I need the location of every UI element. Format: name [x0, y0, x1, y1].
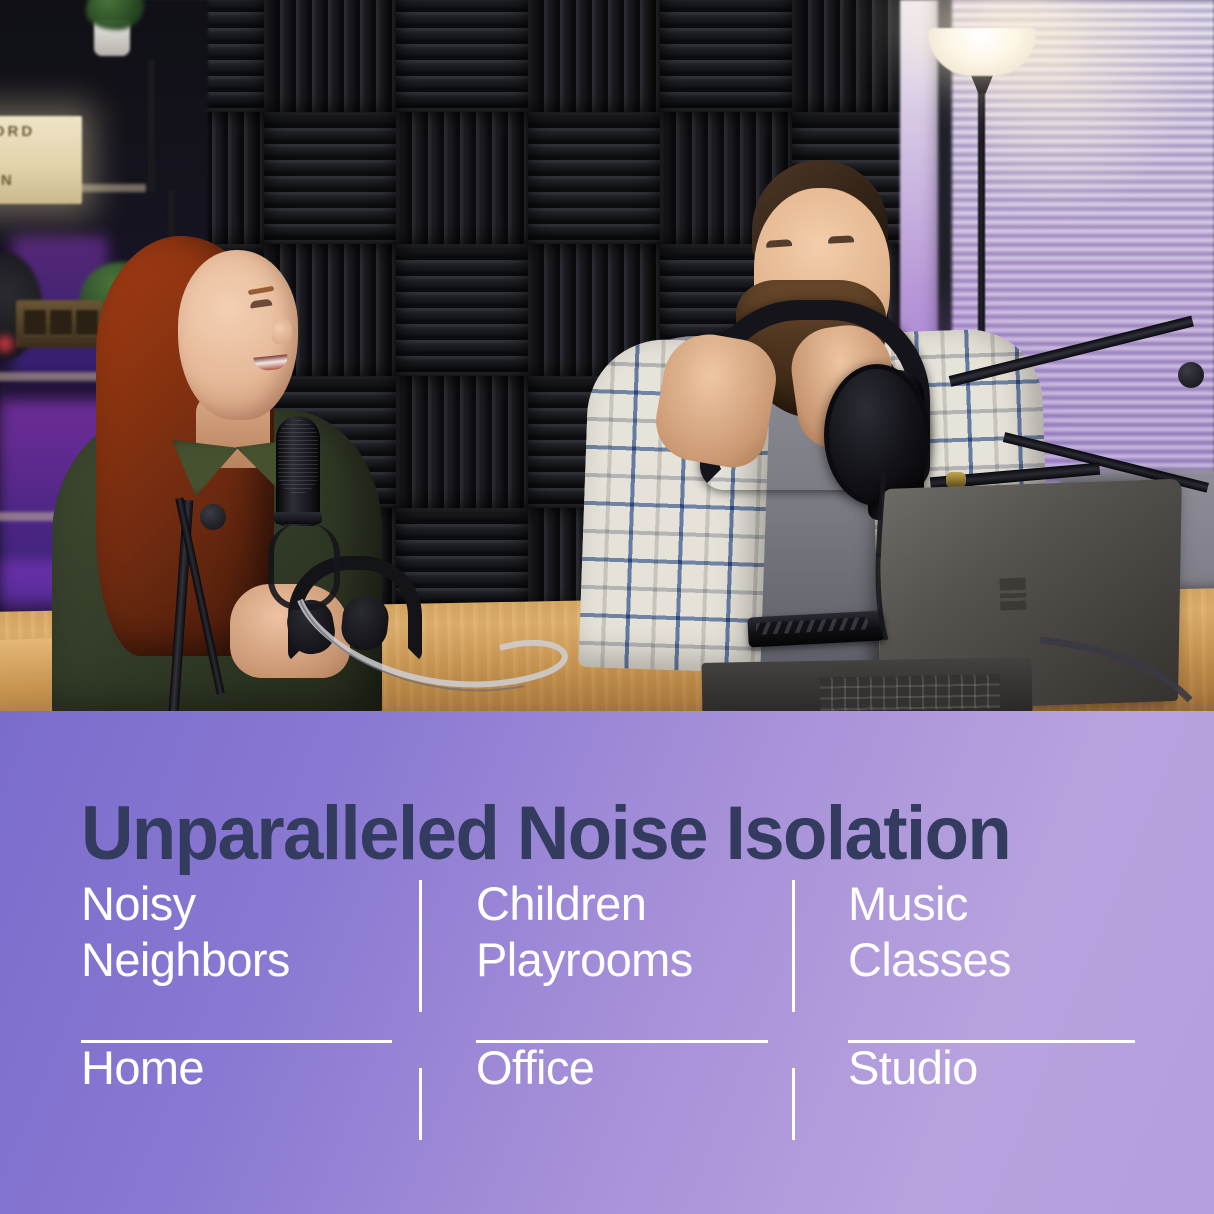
promo-image: KORD ☉ ION — [0, 0, 1214, 1214]
use-case-label: Home — [81, 1040, 421, 1096]
use-case-row-secondary: Home Office Studio — [81, 1040, 1135, 1152]
use-case-label: Children Playrooms — [476, 876, 816, 988]
lightbox-line-3: ION — [0, 172, 15, 189]
host-woman-nose — [272, 318, 292, 344]
use-case-label: Noisy Neighbors — [81, 876, 421, 988]
use-case-row-primary: Noisy Neighbors Children Playrooms Music… — [81, 876, 1135, 1016]
desk-clock — [16, 300, 102, 348]
use-case-children-playrooms[interactable]: Children Playrooms — [476, 876, 816, 1016]
left-boom-joint — [200, 504, 226, 530]
use-case-noisy-neighbors[interactable]: Noisy Neighbors — [81, 876, 421, 1016]
use-case-label: Office — [476, 1040, 816, 1096]
left-microphone-ring — [274, 512, 322, 524]
use-case-music-classes[interactable]: Music Classes — [848, 876, 1135, 1016]
page-title: Unparalleled Noise Isolation — [81, 792, 1093, 876]
grid-divider-vertical — [792, 880, 795, 1012]
grid-divider-vertical — [419, 1068, 422, 1140]
red-indicator-glow — [0, 330, 18, 358]
grid-divider-vertical — [419, 880, 422, 1012]
lightbox-line-1: KORD — [0, 123, 35, 140]
laptop-logo — [999, 578, 1026, 611]
grid-divider-vertical — [792, 1068, 795, 1140]
use-case-office[interactable]: Office — [476, 1040, 816, 1152]
left-shock-mount — [268, 524, 340, 610]
use-case-label: Studio — [848, 1040, 1135, 1096]
left-microphone-grille — [278, 420, 318, 494]
laptop-keyboard — [820, 674, 1001, 711]
use-case-studio[interactable]: Studio — [848, 1040, 1135, 1152]
lightbox-sign: KORD ☉ ION — [0, 116, 82, 204]
host-man-eye — [828, 235, 854, 243]
use-case-grid: Noisy Neighbors Children Playrooms Music… — [81, 876, 1135, 1152]
use-case-label: Music Classes — [848, 876, 1135, 988]
use-case-home[interactable]: Home — [81, 1040, 421, 1152]
studio-photo: KORD ☉ ION — [0, 0, 1214, 712]
pop-filter — [824, 364, 930, 506]
shelf-post — [148, 60, 155, 192]
right-boom-joint — [1178, 362, 1204, 388]
